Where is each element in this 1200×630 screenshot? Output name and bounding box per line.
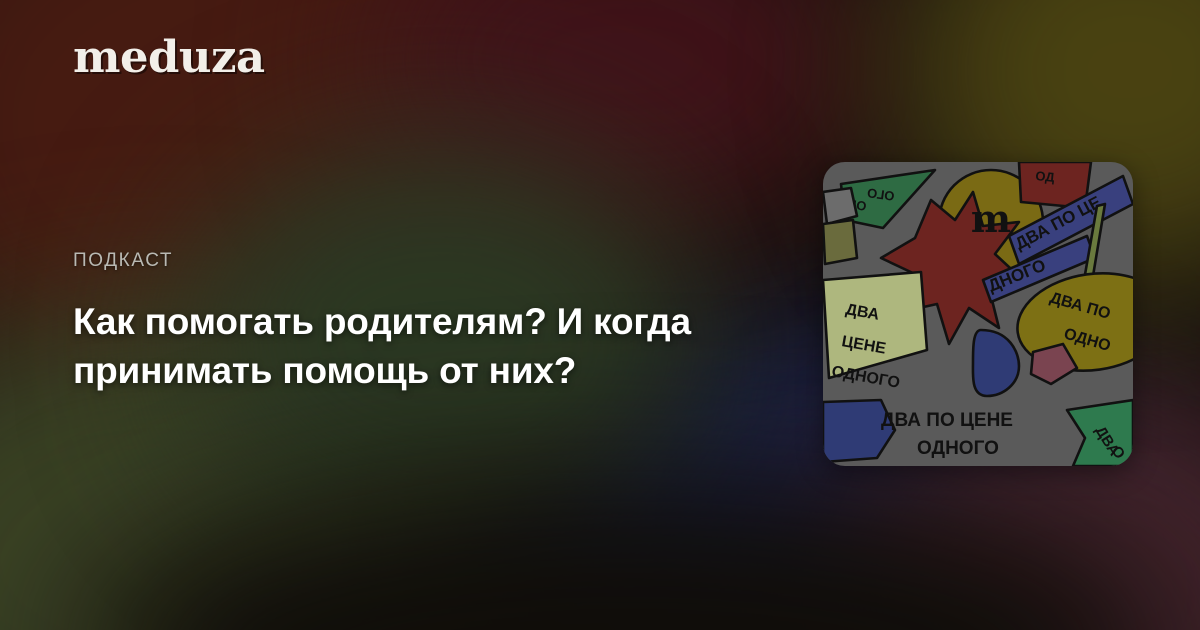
art-meduza-monogram: m (971, 196, 1011, 241)
art-caption-line1: ДВА ПО ЦЕНЕ (881, 410, 1013, 431)
section-kicker: ПОДКАСТ (73, 250, 173, 272)
meduza-logo[interactable]: meduza (73, 36, 265, 80)
share-card: meduza ПОДКАСТ Как помогать родителям? И… (0, 0, 1200, 630)
art-text-od-corner: ОД (1035, 168, 1056, 185)
art-caption-line2: ОДНОГО (917, 438, 999, 459)
shape-gray-chip-left (823, 188, 857, 224)
card-content: meduza ПОДКАСТ Как помогать родителям? И… (73, 0, 793, 630)
podcast-cover-artwork[interactable]: .ink { fill:#111; font-family:"Liberatio… (823, 162, 1133, 466)
shape-olive-chip-left (823, 220, 857, 264)
page-title: Как помогать родителям? И когда принимат… (73, 298, 813, 396)
cover-art-illustration: .ink { fill:#111; font-family:"Liberatio… (823, 162, 1133, 466)
